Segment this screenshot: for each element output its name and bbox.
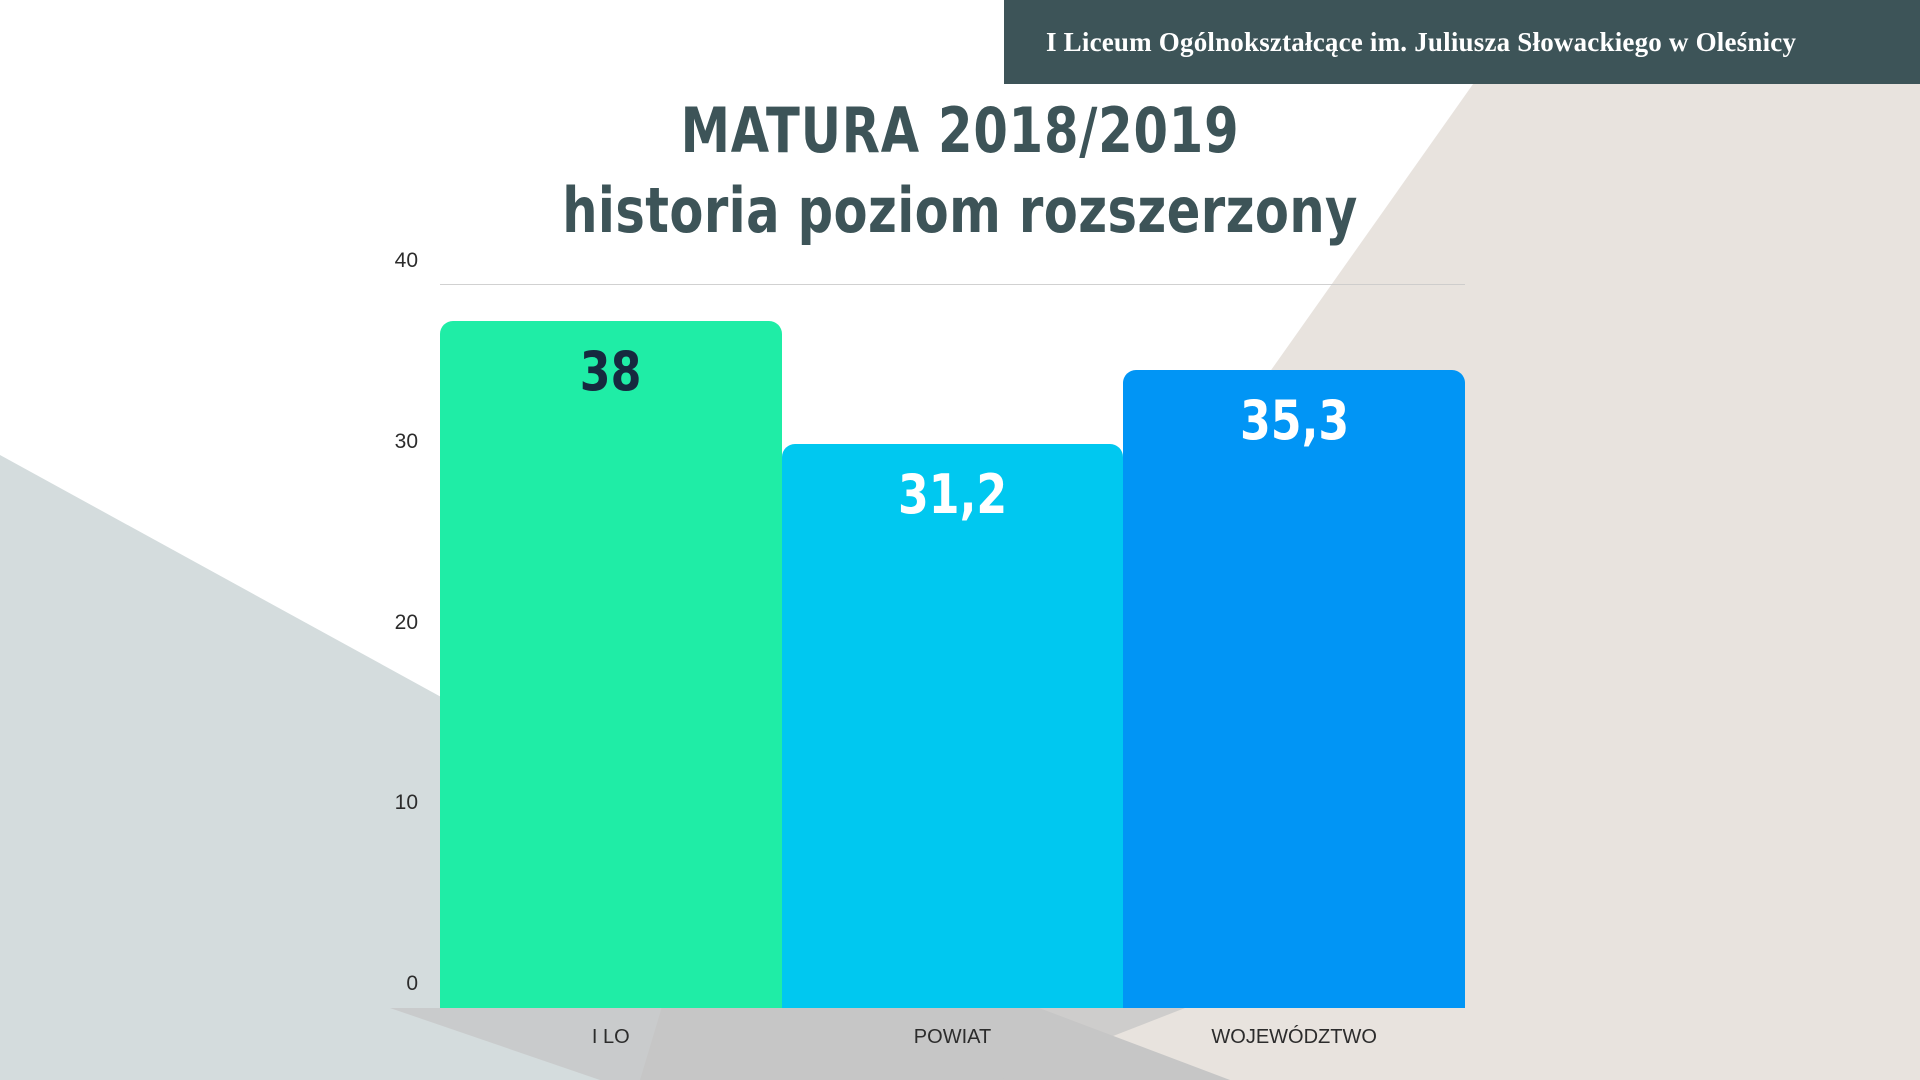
- x-axis-category-label: POWIAT: [914, 1026, 991, 1049]
- bar-województwo[interactable]: 35,3: [1123, 370, 1465, 1008]
- bar-value-label: 31,2: [898, 468, 1007, 1008]
- bar-group: 38I LO31,2POWIAT35,3WOJEWÓDZTWO: [440, 285, 1465, 1008]
- y-axis-tick-label: 40: [395, 249, 418, 273]
- bar-slot: 38I LO: [440, 285, 782, 1008]
- bar-i-lo[interactable]: 38: [440, 321, 782, 1008]
- chart-title-block: MATURA 2018/2019 historia poziom rozszer…: [0, 100, 1920, 242]
- x-axis-category-label: WOJEWÓDZTWO: [1211, 1026, 1377, 1049]
- bar-powiat[interactable]: 31,2: [782, 444, 1124, 1008]
- chart-subtitle: historia poziom rozszerzony: [192, 180, 1728, 242]
- bar-slot: 35,3WOJEWÓDZTWO: [1123, 285, 1465, 1008]
- bar-slot: 31,2POWIAT: [782, 285, 1124, 1008]
- y-axis-tick-label: 10: [395, 791, 418, 815]
- slide-canvas: I Liceum Ogólnokształcące im. Juliusza S…: [0, 0, 1920, 1080]
- y-axis-tick-label: 0: [406, 972, 418, 996]
- x-axis-category-label: I LO: [592, 1026, 630, 1049]
- y-axis-tick-label: 30: [395, 430, 418, 454]
- chart-title: MATURA 2018/2019: [192, 100, 1728, 162]
- y-axis-tick-label: 20: [395, 611, 418, 635]
- school-header-band: I Liceum Ogólnokształcące im. Juliusza S…: [1004, 0, 1920, 84]
- chart-plot-area: 403020100 38I LO31,2POWIAT35,3WOJEWÓDZTW…: [440, 285, 1465, 1008]
- bar-value-label: 38: [580, 345, 642, 1008]
- bar-value-label: 35,3: [1240, 394, 1349, 1008]
- school-name-label: I Liceum Ogólnokształcące im. Juliusza S…: [1046, 27, 1796, 58]
